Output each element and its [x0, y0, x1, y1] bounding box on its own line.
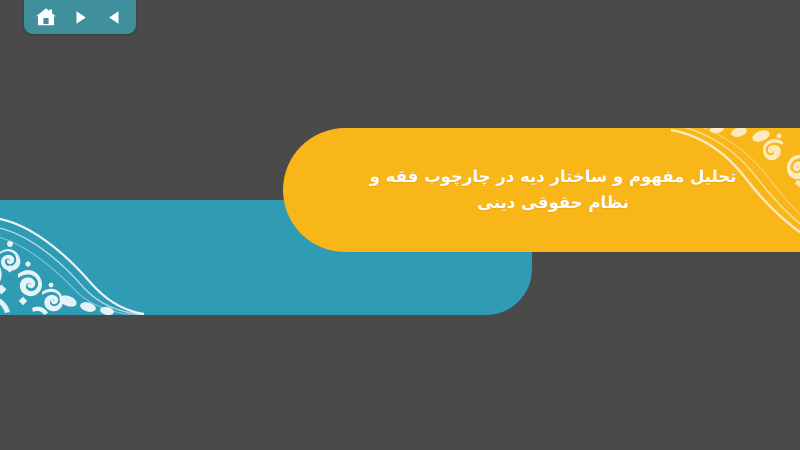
arabesque-ornament-teal: [0, 200, 144, 315]
triangle-right-icon: [72, 9, 89, 26]
slide-title: تحلیل مفهوم و ساختار دیه در چارچوب فقه و…: [343, 128, 763, 252]
next-slide-button[interactable]: [67, 4, 93, 30]
triangle-left-icon: [106, 9, 123, 26]
home-icon: [35, 7, 57, 27]
slide-title-line-2: نظام حقوقی دینی: [477, 190, 629, 216]
title-banner: تحلیل مفهوم و ساختار دیه در چارچوب فقه و…: [283, 128, 800, 252]
previous-slide-button[interactable]: [101, 4, 127, 30]
home-button[interactable]: [33, 4, 59, 30]
presentation-slide: تحلیل مفهوم و ساختار دیه در چارچوب فقه و…: [0, 0, 800, 450]
slide-navigation-toolbar: [24, 0, 136, 34]
slide-title-line-1: تحلیل مفهوم و ساختار دیه در چارچوب فقه و: [370, 164, 737, 190]
